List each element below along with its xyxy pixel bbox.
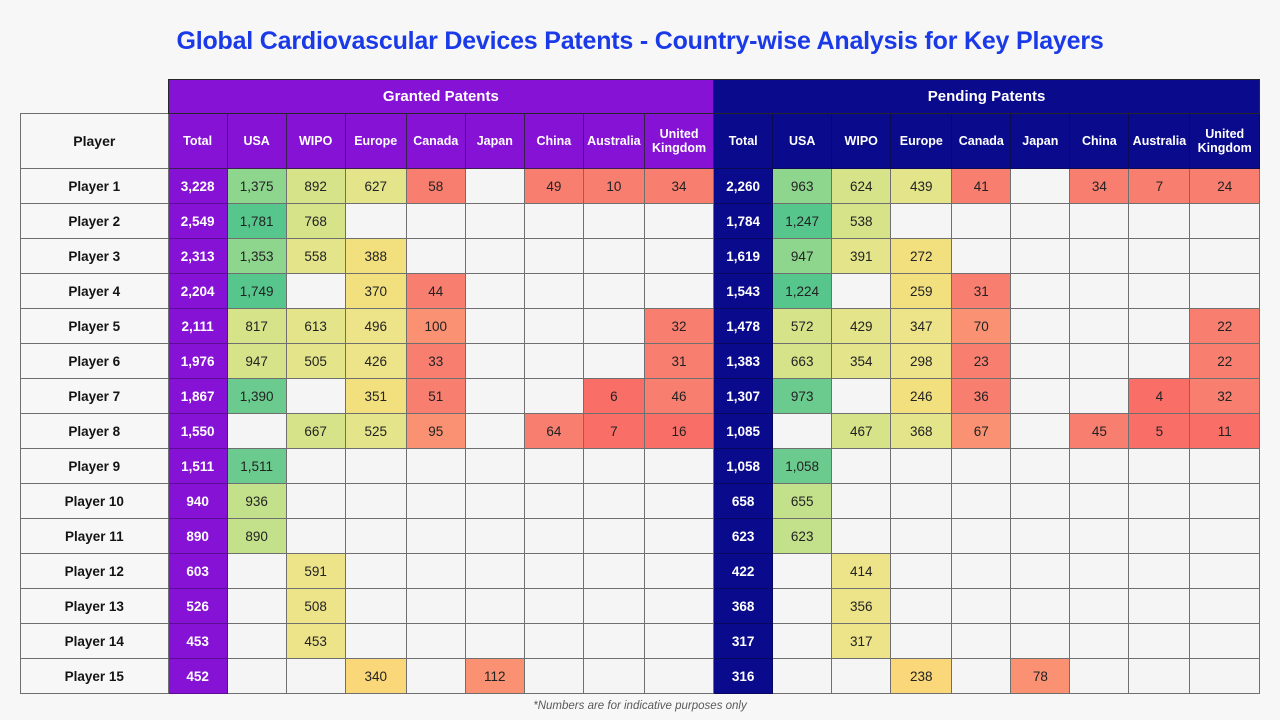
table-row: Player 1545234011231623878: [21, 659, 1260, 694]
player-name-cell: Player 15: [21, 659, 169, 694]
table-row: Player 22,5491,7817681,7841,247538: [21, 204, 1260, 239]
cell-granted-total: 453: [168, 624, 227, 659]
cell-pending-wipo: 317: [832, 624, 891, 659]
player-name-cell: Player 1: [21, 169, 169, 204]
cell-pending-canada: 23: [952, 344, 1011, 379]
cell-pending-united-kingdom: 22: [1190, 309, 1260, 344]
cell-granted-united-kingdom: 32: [644, 309, 713, 344]
cell-granted-japan: 112: [465, 659, 524, 694]
cell-pending-china: [1070, 484, 1129, 519]
cell-granted-united-kingdom: [644, 449, 713, 484]
cell-pending-total: 1,058: [714, 449, 773, 484]
cell-pending-united-kingdom: [1190, 239, 1260, 274]
cell-granted-canada: 44: [406, 274, 465, 309]
cell-pending-canada: 31: [952, 274, 1011, 309]
cell-pending-total: 623: [714, 519, 773, 554]
cell-pending-europe: [891, 589, 952, 624]
cell-pending-total: 1,085: [714, 414, 773, 449]
cell-granted-japan: [465, 554, 524, 589]
cell-pending-japan: [1011, 449, 1070, 484]
cell-pending-canada: [952, 239, 1011, 274]
cell-pending-china: [1070, 309, 1129, 344]
cell-pending-japan: [1011, 309, 1070, 344]
cell-granted-canada: [406, 204, 465, 239]
cell-pending-australia: [1129, 274, 1190, 309]
cell-granted-united-kingdom: [644, 624, 713, 659]
cell-granted-total: 1,511: [168, 449, 227, 484]
cell-granted-japan: [465, 239, 524, 274]
cell-granted-japan: [465, 274, 524, 309]
cell-granted-usa: 1,375: [227, 169, 286, 204]
cell-pending-china: [1070, 554, 1129, 589]
cell-granted-total: 940: [168, 484, 227, 519]
cell-pending-canada: [952, 554, 1011, 589]
cell-granted-australia: 10: [583, 169, 644, 204]
cell-pending-united-kingdom: [1190, 274, 1260, 309]
cell-pending-wipo: [832, 484, 891, 519]
cell-pending-australia: [1129, 239, 1190, 274]
player-name-cell: Player 12: [21, 554, 169, 589]
cell-granted-usa: 936: [227, 484, 286, 519]
cell-granted-wipo: [286, 519, 345, 554]
cell-granted-wipo: 508: [286, 589, 345, 624]
cell-pending-china: [1070, 204, 1129, 239]
cell-granted-total: 2,313: [168, 239, 227, 274]
cell-pending-united-kingdom: [1190, 624, 1260, 659]
cell-granted-canada: 58: [406, 169, 465, 204]
cell-pending-japan: [1011, 204, 1070, 239]
column-header-granted-europe: Europe: [345, 114, 406, 169]
cell-granted-china: [524, 624, 583, 659]
cell-granted-wipo: [286, 659, 345, 694]
column-header-granted-usa: USA: [227, 114, 286, 169]
cell-granted-europe: 388: [345, 239, 406, 274]
group-header-granted: Granted Patents: [168, 80, 714, 114]
cell-pending-australia: [1129, 344, 1190, 379]
cell-granted-usa: [227, 589, 286, 624]
cell-pending-wipo: 354: [832, 344, 891, 379]
table-row: Player 10940936658655: [21, 484, 1260, 519]
cell-granted-united-kingdom: [644, 659, 713, 694]
cell-pending-china: 34: [1070, 169, 1129, 204]
cell-pending-europe: 298: [891, 344, 952, 379]
cell-granted-total: 1,550: [168, 414, 227, 449]
cell-pending-canada: 41: [952, 169, 1011, 204]
cell-granted-canada: [406, 449, 465, 484]
cell-granted-canada: 100: [406, 309, 465, 344]
cell-granted-wipo: [286, 449, 345, 484]
cell-pending-wipo: [832, 519, 891, 554]
cell-granted-usa: [227, 659, 286, 694]
cell-granted-total: 1,867: [168, 379, 227, 414]
cell-granted-japan: [465, 624, 524, 659]
cell-granted-europe: [345, 519, 406, 554]
cell-granted-china: [524, 274, 583, 309]
cell-granted-usa: 1,511: [227, 449, 286, 484]
cell-granted-china: [524, 484, 583, 519]
player-name-cell: Player 3: [21, 239, 169, 274]
cell-granted-total: 3,228: [168, 169, 227, 204]
cell-granted-united-kingdom: [644, 554, 713, 589]
cell-pending-total: 658: [714, 484, 773, 519]
player-name-cell: Player 11: [21, 519, 169, 554]
cell-pending-total: 317: [714, 624, 773, 659]
cell-granted-usa: 1,390: [227, 379, 286, 414]
cell-pending-wipo: [832, 274, 891, 309]
table-row: Player 14453453317317: [21, 624, 1260, 659]
player-name-cell: Player 9: [21, 449, 169, 484]
cell-granted-usa: [227, 414, 286, 449]
column-header-granted-australia: Australia: [583, 114, 644, 169]
cell-pending-europe: 368: [891, 414, 952, 449]
cell-pending-wipo: [832, 449, 891, 484]
cell-granted-australia: [583, 484, 644, 519]
cell-granted-australia: [583, 554, 644, 589]
cell-pending-canada: [952, 484, 1011, 519]
cell-granted-usa: [227, 554, 286, 589]
group-header-spacer: [21, 80, 169, 114]
cell-pending-australia: 4: [1129, 379, 1190, 414]
column-header-granted-canada: Canada: [406, 114, 465, 169]
cell-granted-united-kingdom: [644, 484, 713, 519]
cell-pending-total: 1,307: [714, 379, 773, 414]
column-header-pending-japan: Japan: [1011, 114, 1070, 169]
cell-granted-china: [524, 659, 583, 694]
cell-granted-canada: [406, 589, 465, 624]
column-header-pending-china: China: [1070, 114, 1129, 169]
cell-granted-united-kingdom: 31: [644, 344, 713, 379]
group-header-row: Granted Patents Pending Patents: [21, 80, 1260, 114]
column-header-pending-total: Total: [714, 114, 773, 169]
cell-pending-japan: [1011, 379, 1070, 414]
player-name-cell: Player 8: [21, 414, 169, 449]
cell-granted-total: 452: [168, 659, 227, 694]
cell-pending-usa: 1,058: [773, 449, 832, 484]
cell-granted-europe: [345, 589, 406, 624]
player-name-cell: Player 7: [21, 379, 169, 414]
cell-pending-australia: [1129, 204, 1190, 239]
cell-pending-europe: 272: [891, 239, 952, 274]
cell-granted-japan: [465, 484, 524, 519]
cell-granted-canada: [406, 519, 465, 554]
column-header-granted-wipo: WIPO: [286, 114, 345, 169]
column-header-pending-europe: Europe: [891, 114, 952, 169]
cell-pending-wipo: [832, 659, 891, 694]
cell-pending-europe: [891, 624, 952, 659]
cell-granted-japan: [465, 204, 524, 239]
cell-granted-total: 2,549: [168, 204, 227, 239]
patents-table-container: Granted Patents Pending Patents PlayerTo…: [20, 79, 1260, 694]
column-header-granted-total: Total: [168, 114, 227, 169]
cell-granted-united-kingdom: 46: [644, 379, 713, 414]
cell-granted-usa: 1,353: [227, 239, 286, 274]
cell-granted-australia: 7: [583, 414, 644, 449]
cell-granted-wipo: 613: [286, 309, 345, 344]
cell-pending-usa: 963: [773, 169, 832, 204]
cell-pending-united-kingdom: 32: [1190, 379, 1260, 414]
player-name-cell: Player 2: [21, 204, 169, 239]
cell-pending-china: [1070, 379, 1129, 414]
cell-pending-total: 1,478: [714, 309, 773, 344]
cell-pending-usa: 973: [773, 379, 832, 414]
cell-granted-japan: [465, 449, 524, 484]
cell-pending-japan: [1011, 274, 1070, 309]
cell-granted-wipo: 667: [286, 414, 345, 449]
cell-granted-total: 2,111: [168, 309, 227, 344]
cell-pending-united-kingdom: [1190, 589, 1260, 624]
cell-granted-usa: 1,781: [227, 204, 286, 239]
cell-granted-china: [524, 309, 583, 344]
cell-granted-china: [524, 239, 583, 274]
cell-granted-china: [524, 379, 583, 414]
cell-pending-usa: 1,224: [773, 274, 832, 309]
column-header-granted-united-kingdom: United Kingdom: [644, 114, 713, 169]
cell-granted-japan: [465, 309, 524, 344]
cell-granted-australia: [583, 519, 644, 554]
cell-pending-wipo: 391: [832, 239, 891, 274]
cell-granted-canada: [406, 554, 465, 589]
cell-granted-europe: 351: [345, 379, 406, 414]
cell-pending-japan: [1011, 554, 1070, 589]
cell-granted-europe: [345, 624, 406, 659]
cell-pending-canada: [952, 449, 1011, 484]
cell-pending-australia: [1129, 659, 1190, 694]
cell-granted-canada: [406, 659, 465, 694]
cell-pending-europe: 439: [891, 169, 952, 204]
column-header-pending-australia: Australia: [1129, 114, 1190, 169]
cell-pending-wipo: 538: [832, 204, 891, 239]
cell-granted-australia: [583, 309, 644, 344]
cell-pending-wipo: 467: [832, 414, 891, 449]
cell-granted-europe: 627: [345, 169, 406, 204]
cell-granted-united-kingdom: [644, 239, 713, 274]
cell-granted-canada: [406, 239, 465, 274]
cell-granted-australia: [583, 344, 644, 379]
cell-pending-total: 1,543: [714, 274, 773, 309]
cell-pending-australia: [1129, 589, 1190, 624]
cell-pending-europe: [891, 554, 952, 589]
cell-granted-australia: [583, 624, 644, 659]
cell-pending-usa: [773, 414, 832, 449]
cell-pending-usa: [773, 624, 832, 659]
cell-granted-japan: [465, 519, 524, 554]
cell-pending-canada: [952, 519, 1011, 554]
cell-pending-europe: [891, 519, 952, 554]
cell-pending-europe: [891, 449, 952, 484]
player-name-cell: Player 14: [21, 624, 169, 659]
cell-pending-australia: [1129, 309, 1190, 344]
cell-granted-wipo: 505: [286, 344, 345, 379]
cell-granted-usa: 890: [227, 519, 286, 554]
cell-pending-japan: [1011, 169, 1070, 204]
table-row: Player 52,111817613496100321,47857242934…: [21, 309, 1260, 344]
cell-pending-china: 45: [1070, 414, 1129, 449]
footnote: *Numbers are for indicative purposes onl…: [0, 700, 1280, 712]
cell-pending-total: 1,784: [714, 204, 773, 239]
cell-granted-wipo: [286, 484, 345, 519]
cell-granted-europe: 340: [345, 659, 406, 694]
cell-pending-europe: 259: [891, 274, 952, 309]
cell-pending-japan: [1011, 484, 1070, 519]
cell-granted-japan: [465, 589, 524, 624]
cell-pending-china: [1070, 519, 1129, 554]
cell-pending-japan: [1011, 344, 1070, 379]
cell-pending-usa: [773, 589, 832, 624]
cell-granted-europe: 426: [345, 344, 406, 379]
player-name-cell: Player 13: [21, 589, 169, 624]
cell-granted-total: 1,976: [168, 344, 227, 379]
cell-pending-total: 2,260: [714, 169, 773, 204]
page-title: Global Cardiovascular Devices Patents - …: [0, 0, 1280, 56]
cell-pending-wipo: 624: [832, 169, 891, 204]
column-header-pending-wipo: WIPO: [832, 114, 891, 169]
cell-pending-japan: [1011, 624, 1070, 659]
cell-pending-china: [1070, 344, 1129, 379]
cell-pending-united-kingdom: 24: [1190, 169, 1260, 204]
cell-pending-usa: 1,247: [773, 204, 832, 239]
cell-pending-europe: 246: [891, 379, 952, 414]
cell-granted-china: [524, 554, 583, 589]
cell-pending-china: [1070, 624, 1129, 659]
cell-pending-united-kingdom: 11: [1190, 414, 1260, 449]
table-row: Player 32,3131,3535583881,619947391272: [21, 239, 1260, 274]
cell-granted-wipo: [286, 379, 345, 414]
table-row: Player 13526508368356: [21, 589, 1260, 624]
cell-pending-japan: [1011, 519, 1070, 554]
cell-pending-usa: 623: [773, 519, 832, 554]
cell-pending-australia: 7: [1129, 169, 1190, 204]
cell-pending-canada: 67: [952, 414, 1011, 449]
cell-pending-china: [1070, 239, 1129, 274]
cell-pending-australia: [1129, 449, 1190, 484]
cell-pending-europe: 347: [891, 309, 952, 344]
table-row: Player 12603591422414: [21, 554, 1260, 589]
cell-granted-wipo: 453: [286, 624, 345, 659]
cell-granted-japan: [465, 169, 524, 204]
cell-pending-total: 368: [714, 589, 773, 624]
cell-granted-japan: [465, 379, 524, 414]
cell-pending-china: [1070, 449, 1129, 484]
table-row: Player 42,2041,749370441,5431,22425931: [21, 274, 1260, 309]
cell-granted-europe: [345, 554, 406, 589]
cell-granted-canada: 95: [406, 414, 465, 449]
cell-pending-australia: [1129, 519, 1190, 554]
cell-pending-usa: [773, 554, 832, 589]
cell-pending-wipo: 356: [832, 589, 891, 624]
cell-pending-united-kingdom: 22: [1190, 344, 1260, 379]
cell-pending-usa: 655: [773, 484, 832, 519]
cell-pending-china: [1070, 589, 1129, 624]
cell-pending-japan: [1011, 414, 1070, 449]
cell-granted-usa: 947: [227, 344, 286, 379]
cell-pending-canada: [952, 204, 1011, 239]
cell-granted-europe: [345, 484, 406, 519]
cell-pending-total: 1,383: [714, 344, 773, 379]
cell-granted-japan: [465, 344, 524, 379]
cell-pending-canada: 70: [952, 309, 1011, 344]
patents-heatmap-table: Granted Patents Pending Patents PlayerTo…: [20, 79, 1260, 694]
cell-granted-wipo: [286, 274, 345, 309]
cell-granted-australia: [583, 449, 644, 484]
cell-granted-australia: [583, 659, 644, 694]
cell-pending-usa: 572: [773, 309, 832, 344]
cell-pending-total: 422: [714, 554, 773, 589]
table-row: Player 91,5111,5111,0581,058: [21, 449, 1260, 484]
cell-pending-usa: 947: [773, 239, 832, 274]
column-header-pending-canada: Canada: [952, 114, 1011, 169]
cell-pending-australia: [1129, 484, 1190, 519]
cell-granted-europe: [345, 449, 406, 484]
cell-pending-usa: [773, 659, 832, 694]
cell-granted-europe: 496: [345, 309, 406, 344]
cell-granted-china: 64: [524, 414, 583, 449]
cell-granted-united-kingdom: 16: [644, 414, 713, 449]
cell-granted-total: 603: [168, 554, 227, 589]
cell-pending-china: [1070, 659, 1129, 694]
table-row: Player 71,8671,390351516461,307973246364…: [21, 379, 1260, 414]
cell-granted-total: 890: [168, 519, 227, 554]
cell-granted-europe: [345, 204, 406, 239]
cell-pending-australia: [1129, 554, 1190, 589]
cell-pending-wipo: 429: [832, 309, 891, 344]
cell-granted-australia: 6: [583, 379, 644, 414]
cell-granted-wipo: 768: [286, 204, 345, 239]
cell-granted-usa: [227, 624, 286, 659]
cell-granted-usa: 1,749: [227, 274, 286, 309]
cell-pending-japan: 78: [1011, 659, 1070, 694]
cell-pending-total: 316: [714, 659, 773, 694]
cell-granted-total: 526: [168, 589, 227, 624]
cell-pending-usa: 663: [773, 344, 832, 379]
cell-pending-japan: [1011, 239, 1070, 274]
cell-granted-china: [524, 519, 583, 554]
column-header-pending-usa: USA: [773, 114, 832, 169]
cell-granted-united-kingdom: [644, 589, 713, 624]
cell-pending-australia: [1129, 624, 1190, 659]
cell-granted-australia: [583, 274, 644, 309]
cell-pending-wipo: [832, 379, 891, 414]
cell-pending-united-kingdom: [1190, 484, 1260, 519]
cell-pending-europe: [891, 204, 952, 239]
cell-granted-europe: 370: [345, 274, 406, 309]
cell-granted-europe: 525: [345, 414, 406, 449]
cell-granted-china: [524, 589, 583, 624]
cell-granted-canada: 51: [406, 379, 465, 414]
cell-granted-usa: 817: [227, 309, 286, 344]
cell-granted-china: 49: [524, 169, 583, 204]
cell-pending-australia: 5: [1129, 414, 1190, 449]
column-header-granted-japan: Japan: [465, 114, 524, 169]
cell-granted-china: [524, 344, 583, 379]
cell-granted-united-kingdom: [644, 274, 713, 309]
cell-granted-united-kingdom: [644, 519, 713, 554]
cell-granted-australia: [583, 589, 644, 624]
page-root: Global Cardiovascular Devices Patents - …: [0, 0, 1280, 720]
cell-pending-canada: [952, 659, 1011, 694]
cell-granted-wipo: 892: [286, 169, 345, 204]
table-row: Player 61,97694750542633311,383663354298…: [21, 344, 1260, 379]
cell-granted-canada: [406, 484, 465, 519]
cell-pending-united-kingdom: [1190, 204, 1260, 239]
player-name-cell: Player 4: [21, 274, 169, 309]
cell-granted-united-kingdom: [644, 204, 713, 239]
table-row: Player 11890890623623: [21, 519, 1260, 554]
cell-pending-canada: [952, 589, 1011, 624]
column-header-row: PlayerTotalUSAWIPOEuropeCanadaJapanChina…: [21, 114, 1260, 169]
cell-pending-united-kingdom: [1190, 449, 1260, 484]
cell-pending-china: [1070, 274, 1129, 309]
cell-granted-australia: [583, 204, 644, 239]
